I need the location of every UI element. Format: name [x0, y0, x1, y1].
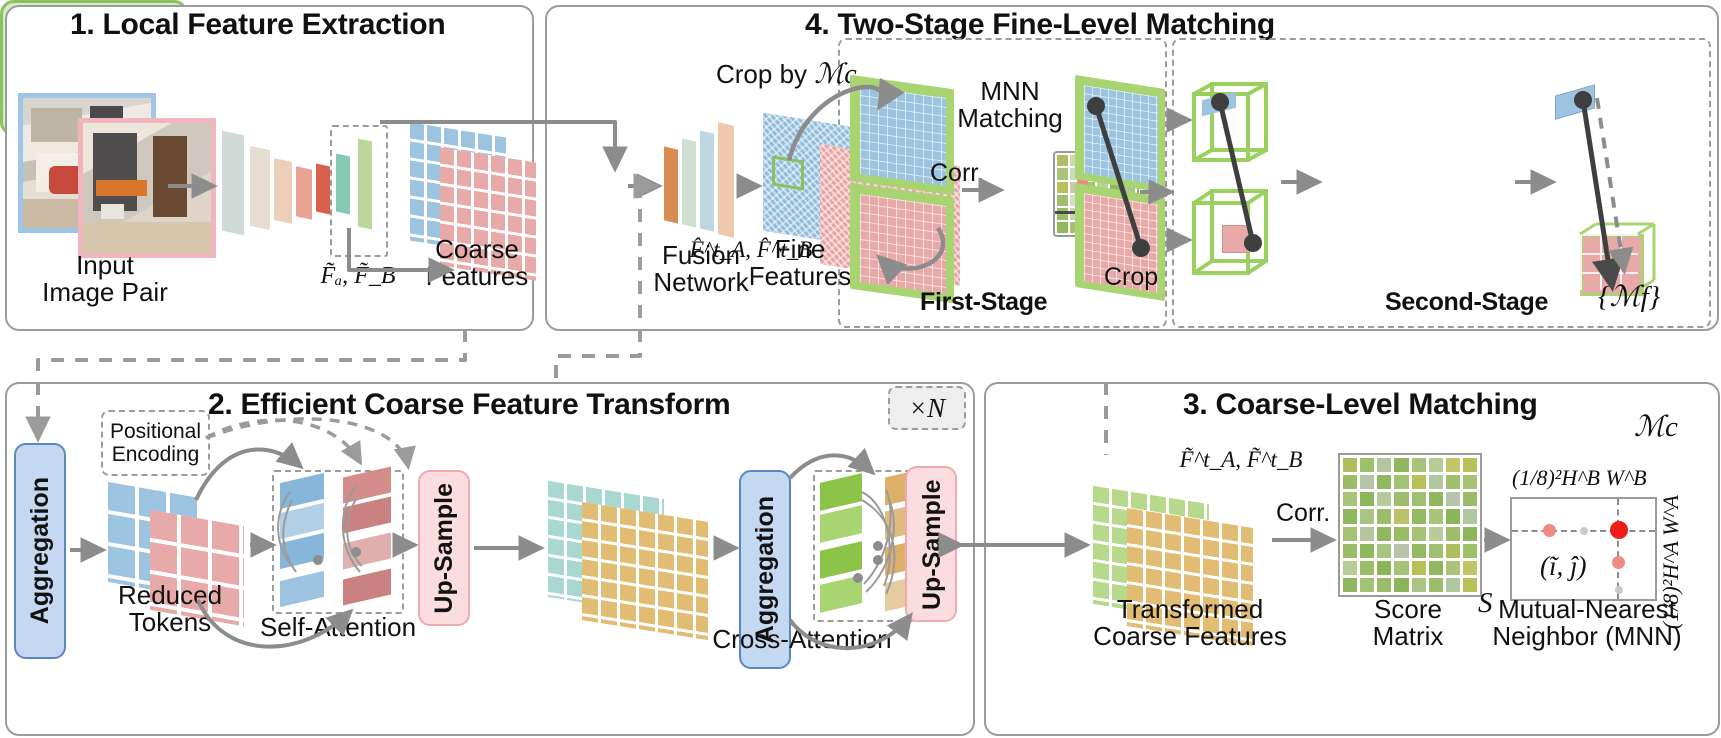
- cnn-output-dashed-box: [330, 125, 388, 257]
- reduced-tokens-label: Reduced Tokens: [100, 582, 240, 637]
- patch-block-pink-left: [850, 190, 954, 296]
- panel1-title: 1. Local Feature Extraction: [70, 8, 445, 42]
- mnn-matching-label: MNN Matching: [940, 78, 1080, 133]
- score-matrix: [1338, 453, 1482, 597]
- cnn-slab-5: [316, 164, 330, 215]
- self-attention-label: Self-Attention: [258, 614, 418, 641]
- panel1-feature-symbol: F̃ₐ, F̃_B: [298, 264, 418, 289]
- aggregation-block-1[interactable]: Aggregation: [14, 443, 66, 659]
- mnn-plot: [1510, 497, 1657, 601]
- cnn-slab-4: [296, 166, 312, 219]
- fusion-slab-4: [718, 122, 734, 238]
- fine-feature-crop-region-a: [772, 155, 804, 190]
- input-image-b: [78, 118, 216, 258]
- transformed-coarse-features-label: Transformed Coarse Features: [1060, 596, 1320, 651]
- final-matches-symbol: {ℳf}: [1598, 282, 1660, 312]
- matched-block-blue: [1075, 82, 1165, 186]
- crop-by-label: Crop by ℳc: [716, 60, 857, 89]
- upsample-block-1[interactable]: Up-Sample: [418, 470, 470, 626]
- score-line1: Score: [1374, 594, 1442, 624]
- first-stage-label: First-Stage: [920, 288, 1047, 317]
- upsample-1-label: Up-Sample: [430, 483, 459, 614]
- fusion-line2: Network: [653, 267, 748, 297]
- score-matrix-label: Score Matrix: [1338, 596, 1478, 651]
- panel3-corr-label: Corr.: [1276, 500, 1330, 526]
- input-label-line2: Image Pair: [42, 277, 168, 307]
- positional-encoding-box: Positional Encoding: [101, 410, 210, 476]
- cnn-slab-1: [222, 131, 244, 236]
- panel4-corr-label: Corr.: [930, 160, 984, 186]
- upsample-2-label: Up-Sample: [918, 474, 947, 610]
- mnn-index-symbol: (ĩ, ĵ): [1540, 552, 1587, 580]
- fine-line1: Fine: [775, 234, 826, 264]
- reduced-line1: Reduced: [118, 580, 222, 610]
- wireframe-cube-top: [1190, 80, 1274, 178]
- pos-enc-line1: Positional: [110, 420, 201, 443]
- score-line2: Matrix: [1373, 621, 1444, 651]
- mnn-line1: MNN: [980, 76, 1039, 106]
- panel2-title: 2. Efficient Coarse Feature Transform: [208, 388, 730, 422]
- aggregation-1-label: Aggregation: [26, 477, 55, 624]
- reduced-line2: Tokens: [129, 607, 211, 637]
- score-matrix-symbol: S: [1478, 588, 1493, 618]
- repeat-badge-label: ×N: [909, 393, 945, 424]
- mnn-line2: Matching: [957, 103, 1063, 133]
- fusion-slab-2: [682, 138, 696, 227]
- mnn-label-line2: Neighbor (MNN): [1492, 621, 1681, 651]
- aggregation-2-label: Aggregation: [751, 496, 780, 643]
- input-label-line1: Input: [76, 250, 134, 280]
- coarse-features-label: Coarse Features: [418, 236, 536, 291]
- mnn-label-line1: Mutual-Nearest: [1498, 594, 1676, 624]
- mnn-axis-top-label: (1/8)²H^B W^B: [1512, 466, 1647, 489]
- input-image-pair-label: Input Image Pair: [20, 252, 190, 307]
- transformed-line2: Coarse Features: [1093, 621, 1287, 651]
- repeat-badge: ×N: [888, 386, 966, 430]
- upsampled-grid-b: [582, 502, 708, 640]
- pos-enc-line2: Encoding: [112, 443, 200, 466]
- crop-by-text: Crop by: [716, 59, 807, 89]
- cnn-slab-2: [250, 146, 270, 230]
- cnn-slab-3: [274, 158, 292, 224]
- panel3-title: 3. Coarse-Level Matching: [1183, 388, 1538, 422]
- mnn-label: Mutual-Nearest Neighbor (MNN): [1492, 596, 1682, 651]
- second-stage-label: Second-Stage: [1385, 288, 1548, 317]
- panel3-feature-symbol: F̃^t_A, F̃^t_B: [1166, 448, 1316, 472]
- coarse-matches-symbol: ℳc: [1634, 412, 1678, 442]
- coarse-label-line2: Features: [426, 261, 529, 291]
- transformed-line1: Transformed: [1117, 594, 1263, 624]
- fine-line2: Features: [749, 261, 852, 291]
- crop-label: Crop: [1104, 264, 1158, 290]
- panel4-title: 4. Two-Stage Fine-Level Matching: [805, 8, 1275, 42]
- cross-attention-label: Cross-Attention: [712, 626, 892, 653]
- wireframe-cube-bottom: [1190, 185, 1274, 289]
- coarse-label-line1: Coarse: [435, 234, 519, 264]
- fusion-slab-3: [700, 130, 714, 231]
- fine-features-label: Fine Features: [744, 236, 856, 291]
- fusion-slab-1: [664, 146, 678, 223]
